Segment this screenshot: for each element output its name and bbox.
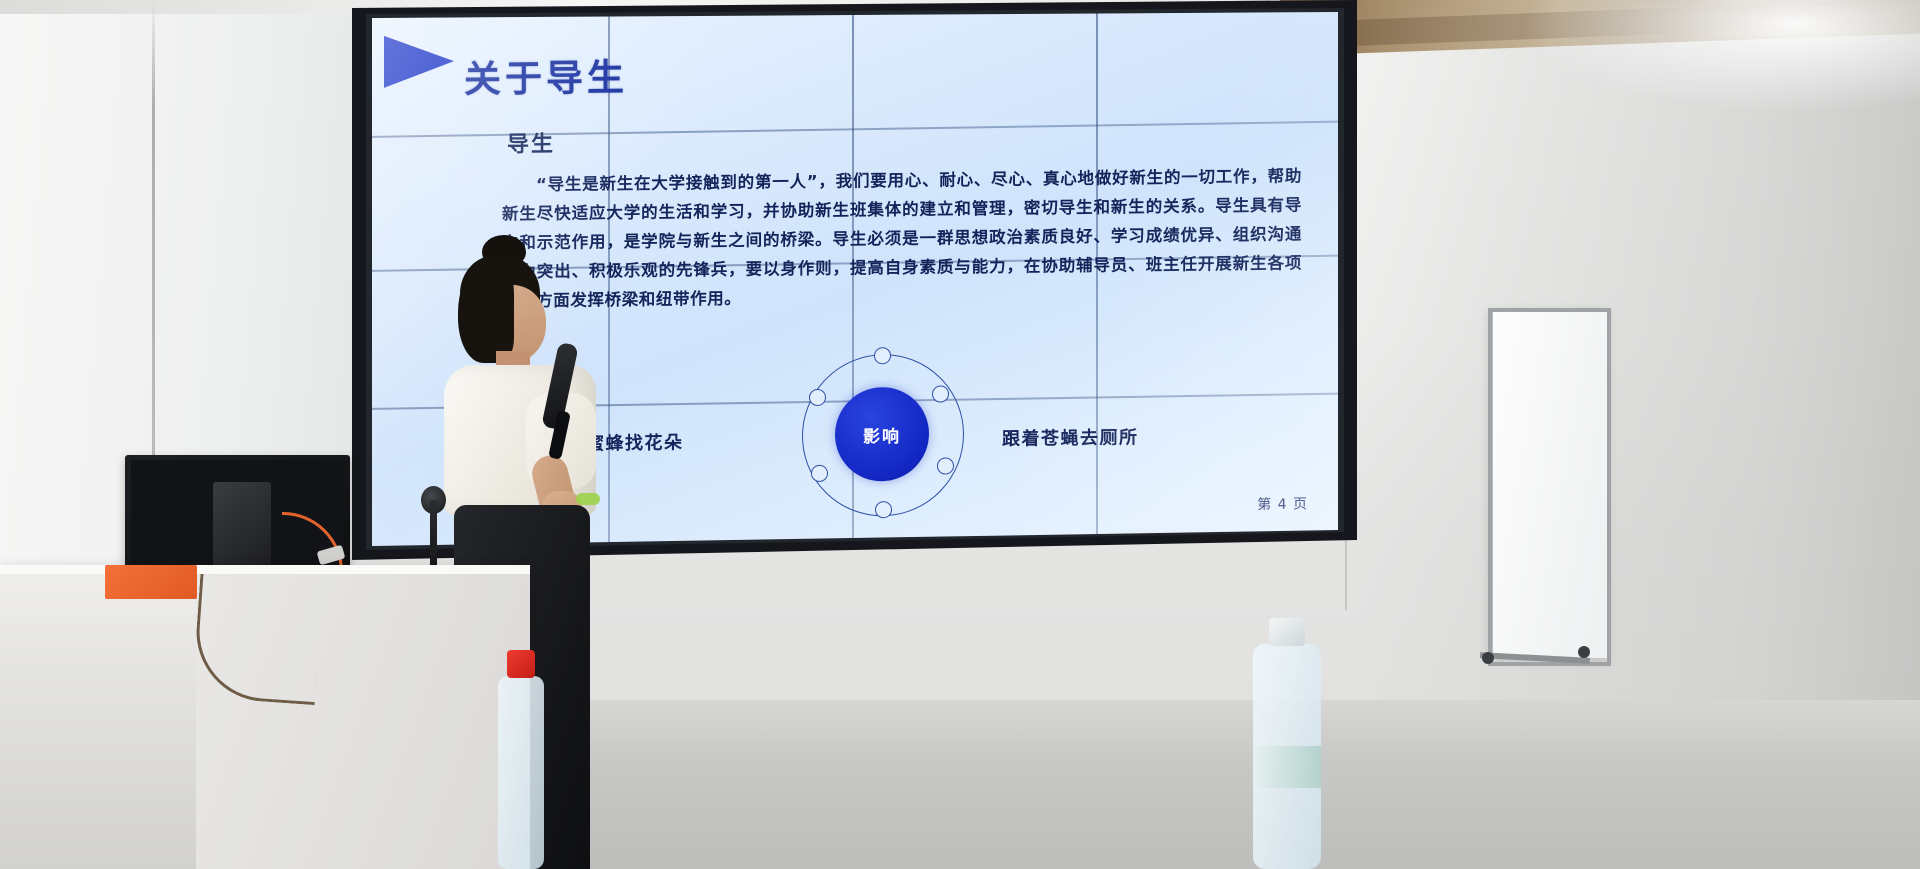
orbit-node-bottom [875, 501, 892, 518]
slide-subtitle: 导生 [507, 126, 555, 159]
slide-body-paragraph: “导生是新生在大学接触到的第一人”，我们要用心、耐心、尽心、真心地做好新生的一切… [502, 161, 1302, 315]
presenter-clicker [576, 493, 600, 505]
orbit-node-bottom-left [811, 465, 828, 482]
orbit-node-top [874, 347, 891, 364]
bottle-cap [507, 650, 535, 678]
bottle-label [1253, 746, 1321, 788]
diagram-label-right: 跟着苍蝇去厕所 [1002, 423, 1139, 451]
slide-page-number: 第 4 页 [1257, 493, 1308, 514]
water-bottle-red-cap [498, 650, 544, 869]
orange-equipment-case [105, 565, 197, 599]
influence-diagram: 影响 [787, 345, 977, 532]
orbit-node-bottom-right [937, 457, 954, 474]
whiteboard-wheel-right [1578, 646, 1590, 658]
podium-edge [0, 565, 530, 574]
slide-title: 关于导生 [464, 47, 628, 103]
orbit-node-top-right [932, 385, 949, 402]
bottle-body [498, 676, 544, 869]
orbit-node-top-left [809, 389, 826, 406]
presenter-hair-front [458, 263, 514, 363]
title-arrow-icon [384, 35, 454, 88]
whiteboard-frame [1488, 308, 1611, 666]
water-bottle-white-cap [1253, 618, 1321, 869]
influence-core-label: 影响 [863, 421, 901, 446]
room-photo: 关于导生 导生 “导生是新生在大学接触到的第一人”，我们要用心、耐心、尽心、真心… [0, 0, 1920, 869]
light-glare [1500, 0, 1920, 120]
bottle-cap [1269, 618, 1305, 646]
whiteboard-wheel-left [1482, 652, 1494, 664]
